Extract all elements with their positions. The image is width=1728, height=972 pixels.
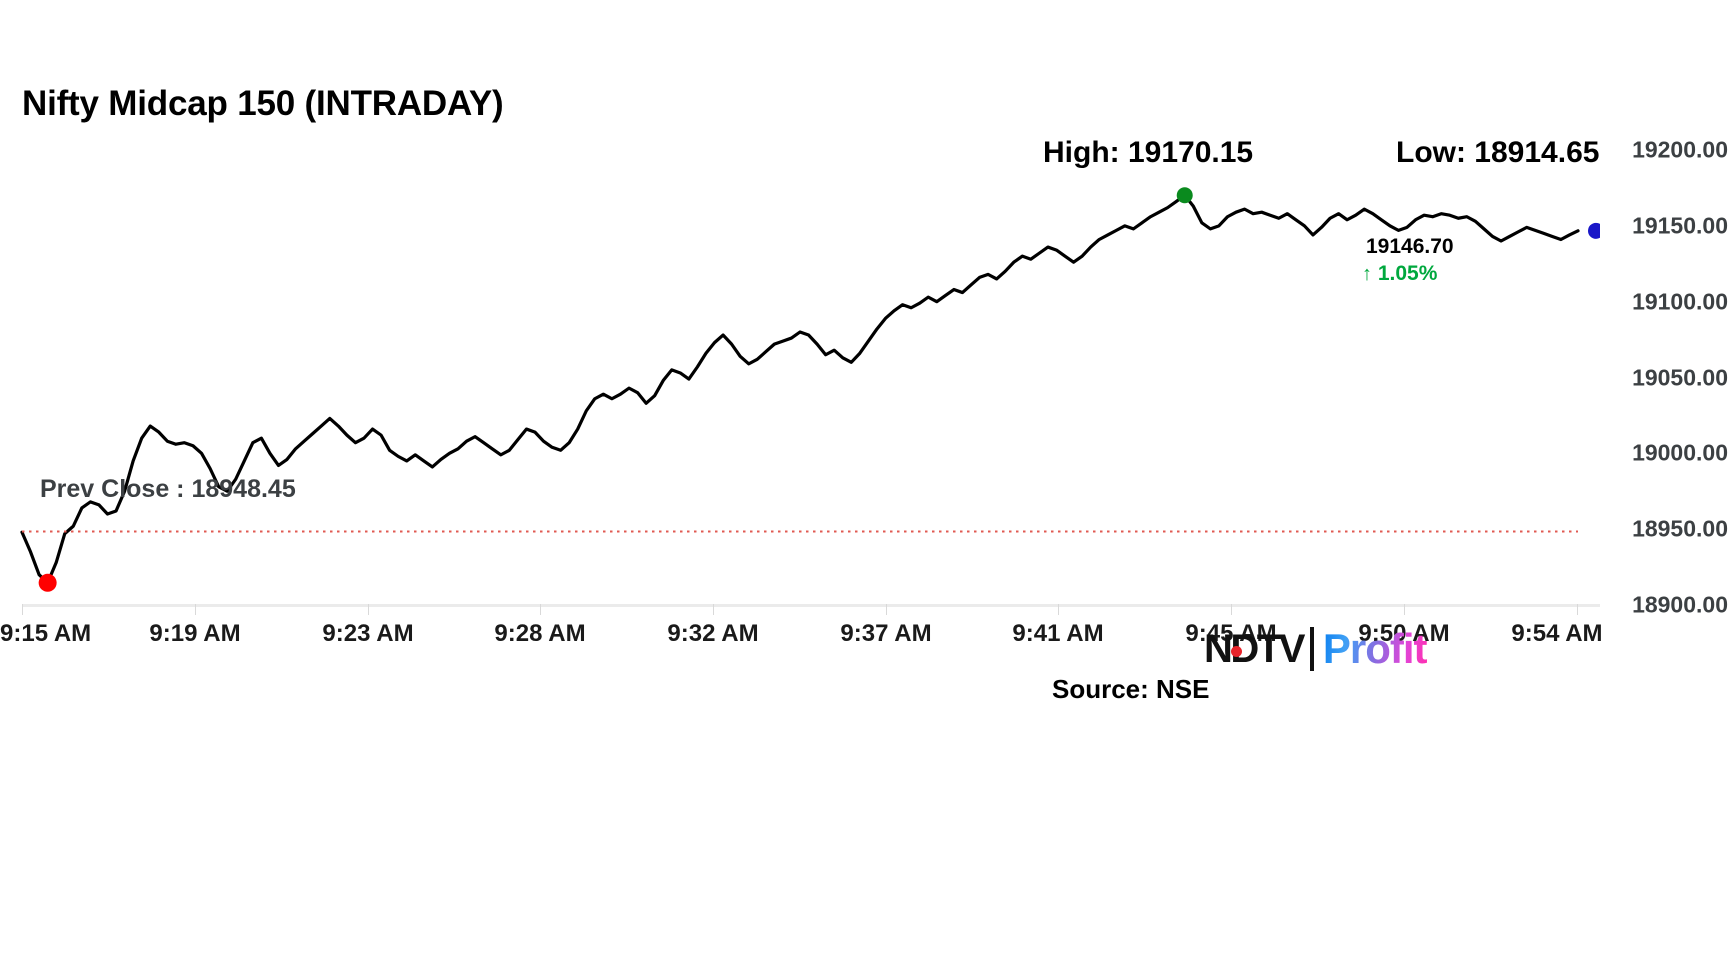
x-axis-tick-mark bbox=[540, 604, 541, 615]
y-axis-tick: 19150.00 bbox=[1632, 212, 1728, 239]
profit-wordmark: Profit bbox=[1323, 628, 1427, 670]
x-axis-tick: 9:15 AM bbox=[0, 620, 91, 648]
page-title: Nifty Midcap 150 (INTRADAY) bbox=[22, 84, 503, 124]
x-axis-tick-mark bbox=[1058, 604, 1059, 615]
low-marker-dot bbox=[39, 574, 57, 592]
x-axis-tick: 9:32 AM bbox=[667, 620, 758, 648]
y-axis-tick: 18900.00 bbox=[1632, 592, 1728, 619]
x-axis-tick-mark bbox=[368, 604, 369, 615]
x-axis-tick: 9:23 AM bbox=[322, 620, 413, 648]
y-axis-tick: 19100.00 bbox=[1632, 288, 1728, 315]
last-price-label: 19146.70 bbox=[1366, 235, 1454, 259]
last-price-marker-dot bbox=[1588, 223, 1600, 239]
price-plot-area bbox=[0, 150, 1600, 605]
high-marker-dot bbox=[1177, 187, 1193, 203]
up-arrow-icon: ↑ bbox=[1362, 263, 1372, 285]
x-axis-tick: 9:28 AM bbox=[494, 620, 585, 648]
ndtv-text: NDTV bbox=[1204, 627, 1303, 671]
x-axis-line bbox=[22, 604, 1600, 607]
x-axis-tick-mark bbox=[713, 604, 714, 615]
x-axis-tick: 9:54 AM bbox=[1511, 620, 1602, 648]
source-label: Source: NSE bbox=[1052, 674, 1210, 705]
chart-canvas: Nifty Midcap 150 (INTRADAY) High: 19170.… bbox=[0, 0, 1728, 972]
ndtv-red-dot-icon bbox=[1231, 646, 1242, 657]
y-axis-tick: 19050.00 bbox=[1632, 364, 1728, 391]
y-axis-tick: 19200.00 bbox=[1632, 137, 1728, 164]
x-axis-tick-mark bbox=[1404, 604, 1405, 615]
x-axis-tick: 9:37 AM bbox=[840, 620, 931, 648]
prev-close-label: Prev Close : 18948.45 bbox=[40, 475, 296, 504]
y-axis: 19200.0019150.0019100.0019050.0019000.00… bbox=[1616, 150, 1728, 605]
x-axis-tick-mark bbox=[195, 604, 196, 615]
ndtv-wordmark: NDTV bbox=[1204, 629, 1303, 669]
price-line bbox=[22, 195, 1578, 583]
ndtv-profit-logo: NDTV Profit bbox=[1204, 623, 1474, 675]
x-axis-tick-mark bbox=[22, 604, 23, 615]
price-line-svg bbox=[0, 150, 1600, 605]
x-axis-tick-mark bbox=[1231, 604, 1232, 615]
x-axis-tick-mark bbox=[1577, 604, 1578, 615]
y-axis-tick: 18950.00 bbox=[1632, 516, 1728, 543]
logo-divider bbox=[1310, 627, 1314, 671]
x-axis-tick: 9:41 AM bbox=[1012, 620, 1103, 648]
x-axis-tick-mark bbox=[886, 604, 887, 615]
x-axis-tick: 9:19 AM bbox=[149, 620, 240, 648]
change-percent-value: 1.05% bbox=[1378, 262, 1438, 285]
y-axis-tick: 19000.00 bbox=[1632, 440, 1728, 467]
change-percent-label: ↑ 1.05% bbox=[1362, 262, 1437, 286]
